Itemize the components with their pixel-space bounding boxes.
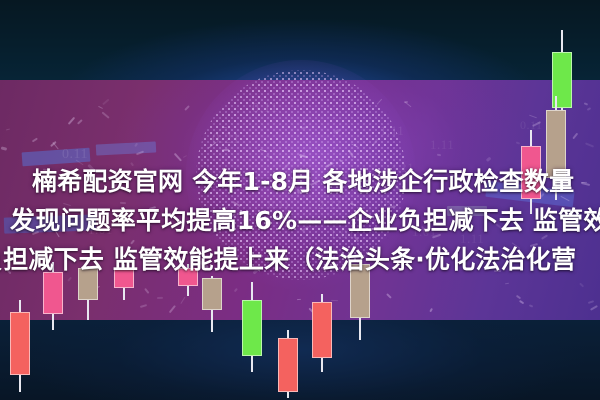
banner-image: 0.110.210.111.111.113.112.111.011.011.01…: [0, 0, 600, 400]
headline-line-2: 发现问题率平均提高16%——企业负担减下去 监管效能: [10, 207, 600, 235]
headline-overlay: 楠希配资官网 今年1-8月 各地涉企行政检查数量 发现问题率平均提高16%——企…: [0, 0, 600, 400]
headline-line-3: 负担减下去 监管效能提上来（法治头条·优化法治化营: [0, 246, 576, 274]
headline-line-1: 楠希配资官网 今年1-8月 各地涉企行政检查数量: [32, 168, 574, 196]
